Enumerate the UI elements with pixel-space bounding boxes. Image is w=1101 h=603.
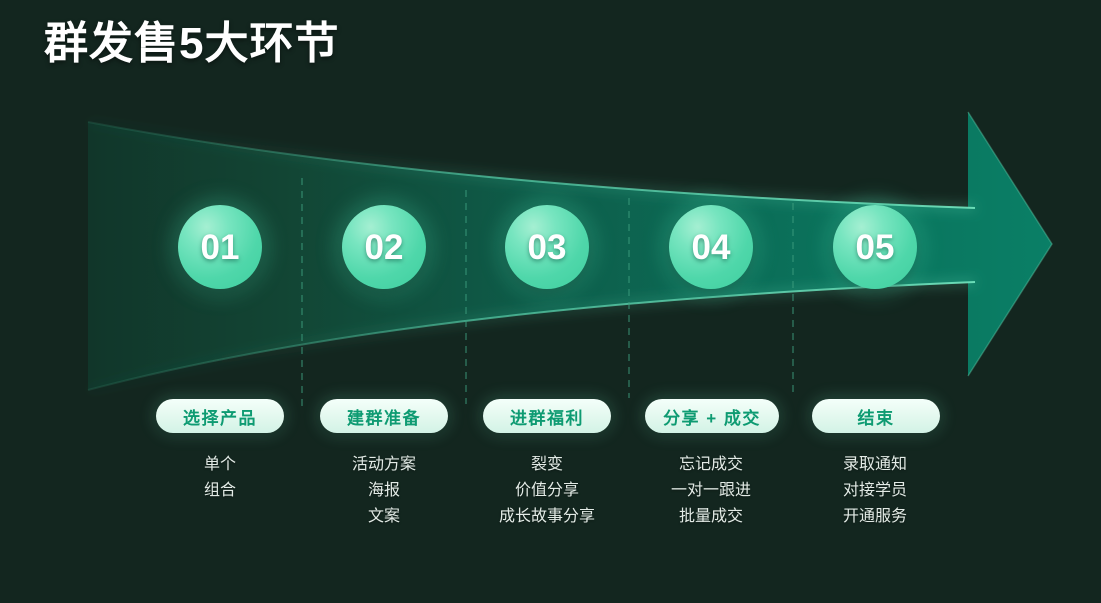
page-title: 群发售5大环节 — [44, 18, 339, 71]
step-number: 04 — [692, 230, 731, 265]
step-item: 录取通知 — [795, 452, 955, 478]
step-item: 单个 — [140, 452, 300, 478]
step-number: 05 — [856, 230, 895, 265]
step-label-text: 进群福利 — [510, 404, 584, 429]
step-number: 02 — [365, 230, 404, 265]
step-circle-05[interactable]: 05 — [833, 205, 917, 289]
step-item: 组合 — [140, 478, 300, 504]
step-item: 文案 — [304, 504, 464, 530]
slide-canvas: 群发售5大环节 — [0, 0, 1101, 603]
step-item: 成长故事分享 — [467, 504, 627, 530]
step-item: 忘记成交 — [631, 452, 791, 478]
step-label-pill-02[interactable]: 建群准备 — [320, 399, 448, 433]
step-label-pill-05[interactable]: 结束 — [812, 399, 940, 433]
step-circle-04[interactable]: 04 — [669, 205, 753, 289]
step-items-04: 忘记成交 一对一跟进 批量成交 — [631, 452, 791, 530]
step-number: 01 — [201, 230, 240, 265]
step-item: 开通服务 — [795, 504, 955, 530]
step-label-text: 结束 — [858, 404, 895, 429]
step-label-text: 选择产品 — [183, 404, 257, 429]
step-label-pill-01[interactable]: 选择产品 — [156, 399, 284, 433]
step-items-03: 裂变 价值分享 成长故事分享 — [467, 452, 627, 530]
step-item: 裂变 — [467, 452, 627, 478]
step-item: 一对一跟进 — [631, 478, 791, 504]
step-circle-02[interactable]: 02 — [342, 205, 426, 289]
step-circle-01[interactable]: 01 — [178, 205, 262, 289]
step-label-text: 建群准备 — [347, 404, 421, 429]
step-items-02: 活动方案 海报 文案 — [304, 452, 464, 530]
step-item: 批量成交 — [631, 504, 791, 530]
step-item: 对接学员 — [795, 478, 955, 504]
step-label-pill-04[interactable]: 分享 + 成交 — [645, 399, 779, 433]
step-item: 价值分享 — [467, 478, 627, 504]
step-items-05: 录取通知 对接学员 开通服务 — [795, 452, 955, 530]
step-item: 活动方案 — [304, 452, 464, 478]
step-label-text: 分享 + 成交 — [663, 404, 761, 429]
step-number: 03 — [528, 230, 567, 265]
step-circle-03[interactable]: 03 — [505, 205, 589, 289]
step-item: 海报 — [304, 478, 464, 504]
step-label-pill-03[interactable]: 进群福利 — [483, 399, 611, 433]
step-items-01: 单个 组合 — [140, 452, 300, 504]
